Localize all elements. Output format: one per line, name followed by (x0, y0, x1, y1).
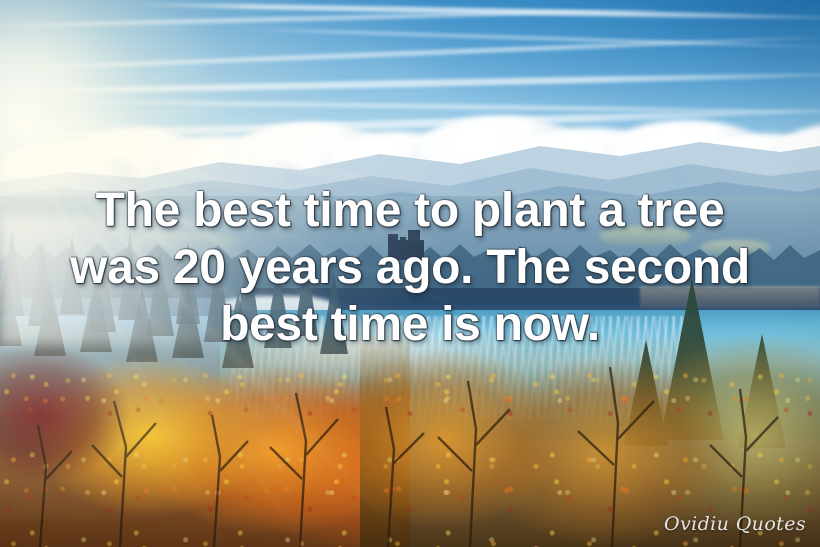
left-conifer-forest (0, 196, 350, 376)
castle-silhouette (386, 230, 430, 260)
castle-turret (400, 237, 406, 260)
castle-keep (408, 230, 420, 260)
conifer-silhouettes (0, 196, 350, 376)
right-conifer-group (620, 270, 800, 450)
castle-tower (388, 234, 398, 260)
watermark-signature: Ovidiu Quotes (664, 513, 806, 535)
conifer-silhouettes-right (620, 270, 800, 450)
quote-image: The best time to plant a tree was 20 yea… (0, 0, 820, 547)
